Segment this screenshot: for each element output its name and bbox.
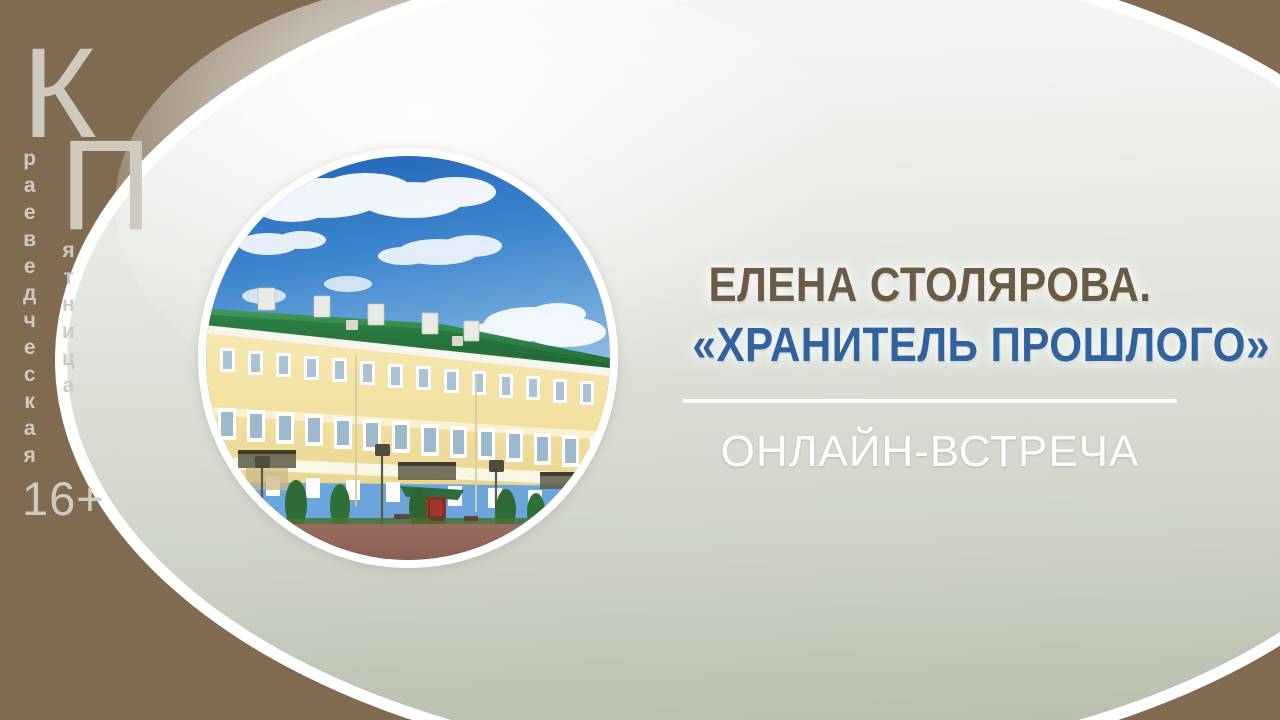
brand-logo: К р а е в е д ч е с к а я П я т н и ц а … <box>0 40 150 460</box>
logo-letter: н <box>62 291 75 318</box>
logo-word-pyatnitsa: я т н и ц а <box>62 237 75 399</box>
title-divider-rule <box>683 399 1177 403</box>
logo-letter: а <box>63 372 75 399</box>
logo-letter: т <box>63 264 73 291</box>
logo-letter: е <box>24 334 36 361</box>
event-subtitle: ОНЛАЙН-ВСТРЕЧА <box>660 426 1200 478</box>
logo-letter: р <box>23 145 36 172</box>
logo-letter: к <box>24 388 35 415</box>
logo-word-kraevedcheskaya: р а е в е д ч е с к а я <box>23 145 36 469</box>
logo-letter: с <box>24 361 36 388</box>
logo-letter: я <box>24 442 36 469</box>
logo-letter: и <box>62 318 75 345</box>
event-title-line2: «ХРАНИТЕЛЬ ПРОШЛОГО» <box>692 318 1167 374</box>
logo-letter: в <box>23 226 36 253</box>
logo-letter: е <box>24 253 36 280</box>
logo-letter: ч <box>24 307 36 334</box>
logo-letter: ц <box>62 345 75 372</box>
logo-letter-p: П <box>60 132 152 240</box>
event-title-line1: ЕЛЕНА СТОЛЯРОВА. <box>692 258 1167 314</box>
building-photo-illustration <box>206 156 610 560</box>
logo-letter: д <box>23 280 36 307</box>
logo-letter: я <box>62 237 74 264</box>
poster-canvas: К р а е в е д ч е с к а я П я т н и ц а … <box>0 0 1280 720</box>
photo-white-ring <box>198 148 618 568</box>
logo-letter: а <box>24 415 36 442</box>
building-photo <box>206 156 610 560</box>
logo-letter: е <box>24 199 36 226</box>
title-block: ЕЛЕНА СТОЛЯРОВА. «ХРАНИТЕЛЬ ПРОШЛОГО» ОН… <box>660 258 1200 478</box>
age-rating-badge: 16+ <box>22 475 105 522</box>
logo-letter: а <box>24 172 36 199</box>
